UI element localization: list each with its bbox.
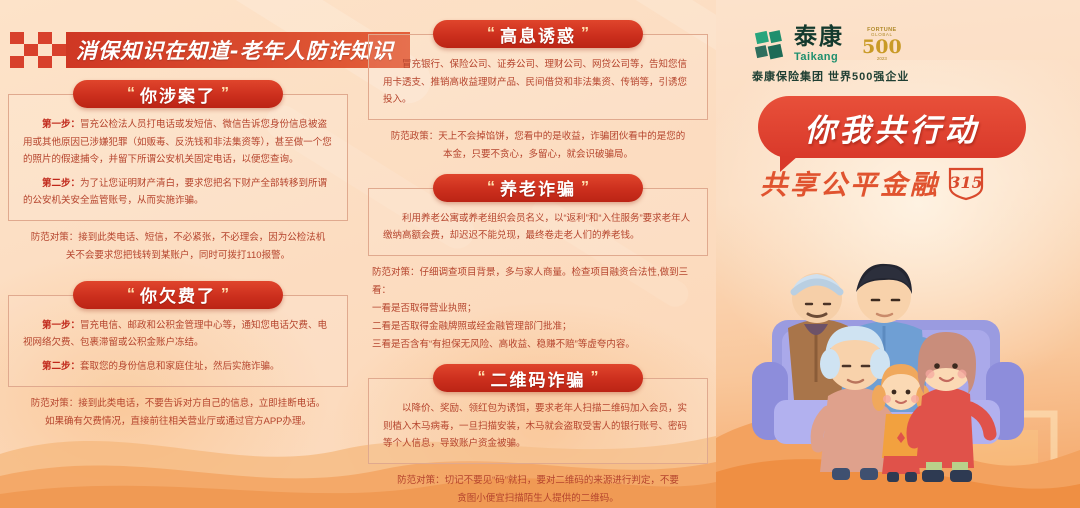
step-label: 第二步： [42,361,80,372]
family-figures [716,200,1080,508]
family-on-sofa-illustration: 保 信 [716,200,1080,508]
section-title-pill: “ 养老诈骗 ” [433,174,643,202]
advice-line: 二看是否取得金融牌照或经金融管理部门批准； [372,318,702,336]
right-panel: 泰康 Taikang FORTUNE GLOBAL 500 2023 泰康保险集… [716,0,1080,508]
section-title: 你涉案了 [135,82,221,107]
section-elderly-care-fraud: “ 养老诈骗 ” 利用养老公寓或养老组织会员名义，以“返利”和“入住服务”要求老… [368,174,708,354]
section-title: 二维码诈骗 [486,366,591,391]
brand-logo: 泰康 Taikang FORTUNE GLOBAL 500 2023 泰康保险集… [752,26,1002,84]
section-title-pill: “ 你欠费了 ” [73,281,283,309]
fortune-500-badge: FORTUNE GLOBAL 500 2023 [862,28,902,62]
paragraph-text: 套取您的身份信息和家庭住址，然后实施诈骗。 [80,361,280,372]
badge-number: 315 [946,165,986,201]
section-title-pill: “ 高息诱惑 ” [433,20,643,48]
advice-line: 一看是否取得营业执照； [372,300,702,318]
advice-line: 防范对策：仔细调查项目背景，多与家人商量。检查项目融资合法性,做到三看： [372,264,702,300]
quote-close: ” [591,370,599,386]
poster-root: 消保知识在知道-老年人防诈知识 “ 你涉案了 ” 第一步：冒充公检法人员打电话或… [0,0,1080,508]
paragraph: 第一步：冒充公检法人员打电话或发短信、微信告诉您身份信息被盗用或其他原因已涉嫌犯… [23,116,333,169]
advice-line: 本金，只要不贪心，多留心，就会识破骗局。 [374,146,702,164]
fortune-number: 500 [862,38,902,57]
quote-close: ” [581,180,589,196]
quote-open: “ [478,370,486,386]
column-middle: “ 高息诱惑 ” 冒充银行、保险公司、证券公司、理财公司、网贷公司等，告知您信用… [368,20,708,508]
section-involved-in-case: “ 你涉案了 ” 第一步：冒充公检法人员打电话或发短信、微信告诉您身份信息被盗用… [8,80,348,265]
section-advice: 防范政策：天上不会掉馅饼，您看中的是收益，诈骗团伙看中的是您的 本金，只要不贪心… [368,120,708,164]
advice-line: 关不会要求您把钱转到某账户，同时可拨打110报警。 [14,247,342,265]
brand-name-cn: 泰康 [794,26,844,49]
paragraph: 利用养老公寓或养老组织会员名义，以“返利”和“入住服务”要求老年人缴纳高额会费，… [383,210,693,245]
advice-line: 防范对策：接到此类电话，不要告诉对方自己的信息，立即挂断电话。 [14,395,342,413]
advice-text: 仔细调查项目背景，多与家人商量。检查项目融资合法性,做到三看： [372,267,688,296]
advice-line: 防范对策：接到此类电话、短信，不必紧张，不必理会，因为公检法机 [14,229,342,247]
shield-315-badge-icon: 315 [946,165,986,201]
quote-open: “ [487,180,495,196]
section-advice: 防范对策：接到此类电话，不要告诉对方自己的信息，立即挂断电话。 如果确有欠费情况… [8,387,348,431]
section-title: 你欠费了 [135,282,221,307]
campaign-headline: 你我共行动 [805,105,980,150]
step-label: 第二步： [42,178,80,189]
section-advice: 防范对策：接到此类电话、短信，不必紧张，不必理会，因为公检法机 关不会要求您把钱… [8,221,348,265]
quote-close: ” [221,86,229,102]
advice-line: 贪图小便宜扫描陌生人提供的二维码。 [374,490,702,508]
quote-close: ” [221,287,229,303]
page-title: 消保知识在知道-老年人防诈知识 [66,32,410,68]
advice-text: 天上不会掉馅饼，您看中的是收益，诈骗团伙看中的是您的 [438,131,685,142]
advice-text: 接到此类电话，不要告诉对方自己的信息，立即挂断电话。 [78,398,325,409]
taikang-logo-icon [752,28,786,62]
section-qr-code-fraud: “ 二维码诈骗 ” 以降价、奖励、领红包为诱饵，要求老年人扫描二维码加入会员，实… [368,364,708,508]
advice-label: 防范对策： [372,267,420,278]
quote-open: “ [127,287,135,303]
paragraph: 以降价、奖励、领红包为诱饵，要求老年人扫描二维码加入会员，实则植入木马病毒，一旦… [383,400,693,453]
section-title: 高息诱惑 [495,22,581,47]
paragraph: 第一步：冒充电信、邮政和公积金管理中心等，通知您电话欠费、电视网络欠费、包裹滞留… [23,317,333,352]
header-banner: 消保知识在知道-老年人防诈知识 [10,32,410,68]
section-you-owe-fees: “ 你欠费了 ” 第一步：冒充电信、邮政和公积金管理中心等，通知您电话欠费、电视… [8,281,348,431]
section-title: 养老诈骗 [495,175,581,200]
step-label: 第一步： [42,119,80,130]
paragraph: 冒充银行、保险公司、证券公司、理财公司、网贷公司等，告知您信用卡透支、推销高收益… [383,56,693,109]
brand-name-en: Taikang [794,51,844,63]
quote-close: ” [581,26,589,42]
section-title-pill: “ 二维码诈骗 ” [433,364,643,392]
advice-text: 切记不要见“码”就扫，要对二维码的来源进行判定，不要 [445,475,679,486]
advice-line: 防范政策：天上不会掉馅饼，您看中的是收益，诈骗团伙看中的是您的 [374,128,702,146]
campaign-headline-bubble: 你我共行动 [758,96,1026,158]
advice-label: 防范对策： [31,232,79,243]
campaign-subline-row: 共享公平金融 315 [760,163,1040,202]
section-body: 第一步：冒充公检法人员打电话或发短信、微信告诉您身份信息被盗用或其他原因已涉嫌犯… [8,94,348,221]
advice-label: 防范政策： [391,131,439,142]
advice-label: 防范对策： [397,475,445,486]
advice-line: 三看是否含有“有担保无风险、高收益、稳赚不赔”等虚夸内容。 [372,336,702,354]
section-advice: 防范对策：仔细调查项目背景，多与家人商量。检查项目融资合法性,做到三看： 一看是… [368,256,708,354]
paragraph: 第二步：为了让您证明财产清白，要求您把名下财产全部转移到所谓的公安机关安全监管账… [23,175,333,210]
advice-text: 接到此类电话、短信，不必紧张，不必理会，因为公检法机 [78,232,325,243]
section-high-interest-lure: “ 高息诱惑 ” 冒充银行、保险公司、证券公司、理财公司、网贷公司等，告知您信用… [368,20,708,164]
campaign-subline: 共享公平金融 [760,163,940,202]
advice-line: 防范对策：切记不要见“码”就扫，要对二维码的来源进行判定，不要 [374,472,702,490]
quote-open: “ [487,26,495,42]
mosaic-squares-icon [10,32,66,68]
brand-tagline: 泰康保险集团 世界500强企业 [752,68,1002,84]
step-label: 第一步： [42,320,80,331]
quote-open: “ [127,86,135,102]
section-advice: 防范对策：切记不要见“码”就扫，要对二维码的来源进行判定，不要 贪图小便宜扫描陌… [368,464,708,508]
advice-line: 如果确有欠费情况，直接前往相关营业厅或通过官方APP办理。 [14,413,342,431]
section-title-pill: “ 你涉案了 ” [73,80,283,108]
advice-label: 防范对策： [31,398,79,409]
column-left: “ 你涉案了 ” 第一步：冒充公检法人员打电话或发短信、微信告诉您身份信息被盗用… [8,80,348,431]
paragraph: 第二步：套取您的身份信息和家庭住址，然后实施诈骗。 [23,358,333,376]
